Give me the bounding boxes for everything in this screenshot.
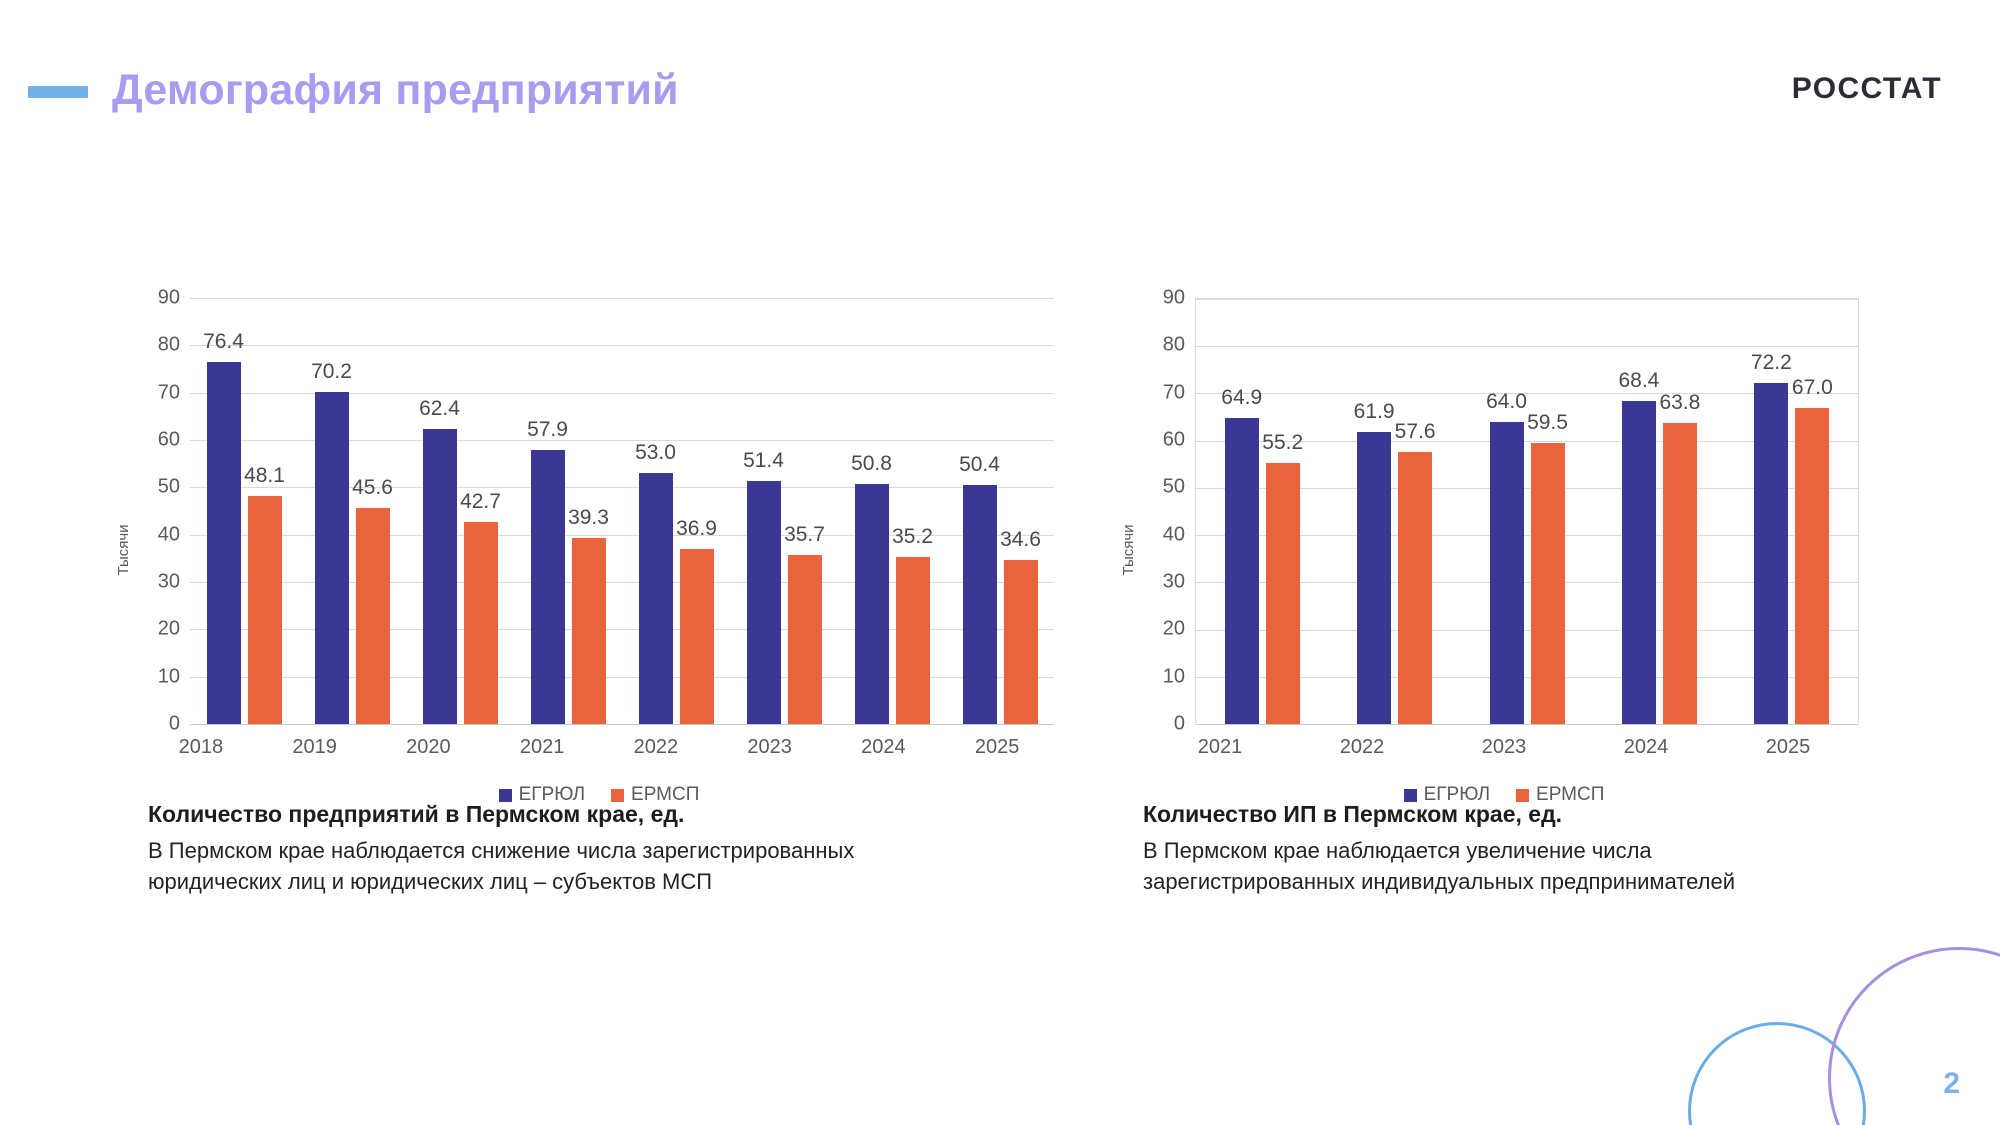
bar-pair: 70.245.6 [315,298,390,724]
bar-value-label: 70.2 [311,360,352,384]
bar-егрюл-2020[interactable]: 62.4 [423,429,457,724]
x-axis-tick-label: 2018 [144,730,258,764]
header-accent-bar [28,86,88,98]
bar-ермсп-2018[interactable]: 48.1 [248,496,282,724]
bar-group: 61.957.6 [1328,299,1460,724]
bar-group: 64.059.5 [1461,299,1593,724]
bar-ермсп-2024[interactable]: 35.2 [896,557,930,724]
bar-ермсп-2022[interactable]: 57.6 [1398,452,1432,724]
bar-value-label: 76.4 [203,330,244,354]
bar-егрюл-2024[interactable]: 50.8 [855,484,889,724]
bar-pair: 64.955.2 [1225,299,1300,724]
bar-value-label: 57.9 [527,418,568,442]
plot-area: 0102030405060708090 64.955.261.957.664.0… [1151,298,1865,724]
x-axis-tick-label: 2021 [485,730,599,764]
bar-value-label: 51.4 [743,449,784,473]
decorative-circle-purple [1828,947,2000,1125]
bar-егрюл-2021[interactable]: 57.9 [531,450,565,724]
bar-pair: 64.059.5 [1490,299,1565,724]
bar-value-label: 50.4 [959,453,1000,477]
caption-body: В Пермском крае наблюдается снижение чис… [148,835,868,897]
y-axis-tick-labels: 0102030405060708090 [1151,298,1193,724]
x-axis-tick-label: 2025 [940,730,1054,764]
bar-group: 64.955.2 [1196,299,1328,724]
bar-value-label: 50.8 [851,452,892,476]
chart-enterprises: Тысячи 0102030405060708090 76.448.170.24… [100,290,1060,810]
bar-group: 50.835.2 [838,298,946,724]
x-axis-tick-label: 2025 [1717,730,1859,764]
bar-value-label: 53.0 [635,441,676,465]
y-axis-tick-label: 30 [158,570,180,593]
bar-value-label: 35.2 [892,525,933,549]
caption-body: В Пермском крае наблюдается увеличение ч… [1143,835,1843,897]
caption-enterprises: Количество предприятий в Пермском крае, … [148,800,868,897]
bar-егрюл-2019[interactable]: 70.2 [315,392,349,724]
bar-group: 72.267.0 [1726,299,1858,724]
y-axis-tick-label: 40 [1163,523,1185,546]
bar-value-label: 42.7 [460,490,501,514]
bar-егрюл-2022[interactable]: 53.0 [639,473,673,724]
bar-pair: 51.435.7 [747,298,822,724]
x-axis-tick-label: 2022 [599,730,713,764]
bar-value-label: 64.9 [1221,386,1262,410]
y-axis-tick-label: 60 [1163,428,1185,451]
bar-value-label: 62.4 [419,397,460,421]
bar-pair: 62.442.7 [423,298,498,724]
x-axis-tick-label: 2024 [827,730,941,764]
grid-area: 76.448.170.245.662.442.757.939.353.036.9… [190,298,1054,724]
bar-value-label: 63.8 [1659,391,1700,415]
y-axis-tick-label: 40 [158,523,180,546]
bar-value-label: 39.3 [568,506,609,530]
bar-value-label: 67.0 [1792,376,1833,400]
bar-pair: 72.267.0 [1754,299,1829,724]
bar-егрюл-2021[interactable]: 64.9 [1225,418,1259,724]
bar-value-label: 55.2 [1262,431,1303,455]
y-axis-tick-label: 70 [158,381,180,404]
bar-group: 50.434.6 [946,298,1054,724]
y-axis-tick-label: 90 [158,287,180,310]
bar-pair: 61.957.6 [1357,299,1432,724]
slide: Демография предприятий РОССТАТ Тысячи 01… [0,0,2000,1125]
y-axis-tick-label: 30 [1163,570,1185,593]
y-axis-tick-label: 50 [1163,476,1185,499]
x-axis-tick-labels: 20182019202020212022202320242025 [144,730,1054,764]
bar-егрюл-2025[interactable]: 50.4 [963,485,997,724]
bar-group: 57.939.3 [514,298,622,724]
grid-area: 64.955.261.957.664.059.568.463.872.267.0 [1195,298,1859,724]
bar-value-label: 34.6 [1000,528,1041,552]
bar-ермсп-2024[interactable]: 63.8 [1663,423,1697,724]
bar-group: 53.036.9 [622,298,730,724]
y-axis-tick-label: 80 [158,334,180,357]
y-axis-title: Тысячи [115,524,132,575]
bar-group: 76.448.1 [190,298,298,724]
bar-value-label: 68.4 [1618,369,1659,393]
bar-ермсп-2023[interactable]: 59.5 [1531,443,1565,724]
x-axis-tick-label: 2019 [258,730,372,764]
bar-value-label: 57.6 [1395,420,1436,444]
bar-value-label: 48.1 [244,464,285,488]
bar-ермсп-2021[interactable]: 55.2 [1266,463,1300,724]
x-axis-tick-label: 2023 [713,730,827,764]
brand-logo-rosstat: РОССТАТ [1792,72,1942,106]
x-axis-line [1196,724,1858,725]
x-axis-tick-label: 2022 [1291,730,1433,764]
y-axis-tick-label: 10 [158,665,180,688]
bar-ермсп-2020[interactable]: 42.7 [464,522,498,724]
bar-value-label: 35.7 [784,523,825,547]
x-axis-tick-label: 2021 [1149,730,1291,764]
page-title: Демография предприятий [112,66,679,115]
caption-title: Количество ИП в Пермском крае, ед. [1143,800,1843,830]
y-axis-tick-label: 70 [1163,381,1185,404]
bar-groups: 64.955.261.957.664.059.568.463.872.267.0 [1196,299,1858,724]
y-axis-tick-label: 60 [158,428,180,451]
y-axis-tick-labels: 0102030405060708090 [146,298,188,724]
bar-value-label: 59.5 [1527,411,1568,435]
bar-value-label: 72.2 [1751,351,1792,375]
bar-pair: 53.036.9 [639,298,714,724]
bar-егрюл-2023[interactable]: 51.4 [747,481,781,724]
x-axis-tick-labels: 20212022202320242025 [1149,730,1859,764]
bar-pair: 76.448.1 [207,298,282,724]
bar-value-label: 36.9 [676,517,717,541]
bar-егрюл-2023[interactable]: 64.0 [1490,422,1524,724]
x-axis-line [190,724,1054,725]
bar-ермсп-2023[interactable]: 35.7 [788,555,822,724]
bar-value-label: 45.6 [352,476,393,500]
bar-groups: 76.448.170.245.662.442.757.939.353.036.9… [190,298,1054,724]
x-axis-tick-label: 2024 [1575,730,1717,764]
bar-value-label: 64.0 [1486,390,1527,414]
bar-ермсп-2021[interactable]: 39.3 [572,538,606,724]
x-axis-tick-label: 2020 [372,730,486,764]
page-number: 2 [1943,1067,1960,1101]
bar-егрюл-2025[interactable]: 72.2 [1754,383,1788,724]
caption-title: Количество предприятий в Пермском крае, … [148,800,868,830]
y-axis-title: Тысячи [1120,524,1137,575]
bar-value-label: 61.9 [1354,400,1395,424]
y-axis-tick-label: 20 [1163,618,1185,641]
plot-area: 0102030405060708090 76.448.170.245.662.4… [146,298,1060,724]
bar-ермсп-2025[interactable]: 34.6 [1004,560,1038,724]
bar-егрюл-2024[interactable]: 68.4 [1622,401,1656,724]
chart-individual-entrepreneurs: Тысячи 0102030405060708090 64.955.261.95… [1105,290,1865,810]
bar-group: 68.463.8 [1593,299,1725,724]
y-axis-tick-label: 80 [1163,334,1185,357]
bar-ермсп-2022[interactable]: 36.9 [680,549,714,724]
y-axis-tick-label: 90 [1163,287,1185,310]
bar-ермсп-2025[interactable]: 67.0 [1795,408,1829,724]
bar-pair: 50.434.6 [963,298,1038,724]
y-axis-tick-label: 20 [158,618,180,641]
bar-group: 70.245.6 [298,298,406,724]
bar-егрюл-2018[interactable]: 76.4 [207,362,241,724]
y-axis-tick-label: 10 [1163,665,1185,688]
bar-ермсп-2019[interactable]: 45.6 [356,508,390,724]
x-axis-tick-label: 2023 [1433,730,1575,764]
bar-group: 51.435.7 [730,298,838,724]
caption-individual-entrepreneurs: Количество ИП в Пермском крае, ед. В Пер… [1143,800,1843,897]
bar-pair: 57.939.3 [531,298,606,724]
bar-pair: 50.835.2 [855,298,930,724]
bar-егрюл-2022[interactable]: 61.9 [1357,432,1391,724]
bar-pair: 68.463.8 [1622,299,1697,724]
bar-group: 62.442.7 [406,298,514,724]
y-axis-tick-label: 50 [158,476,180,499]
